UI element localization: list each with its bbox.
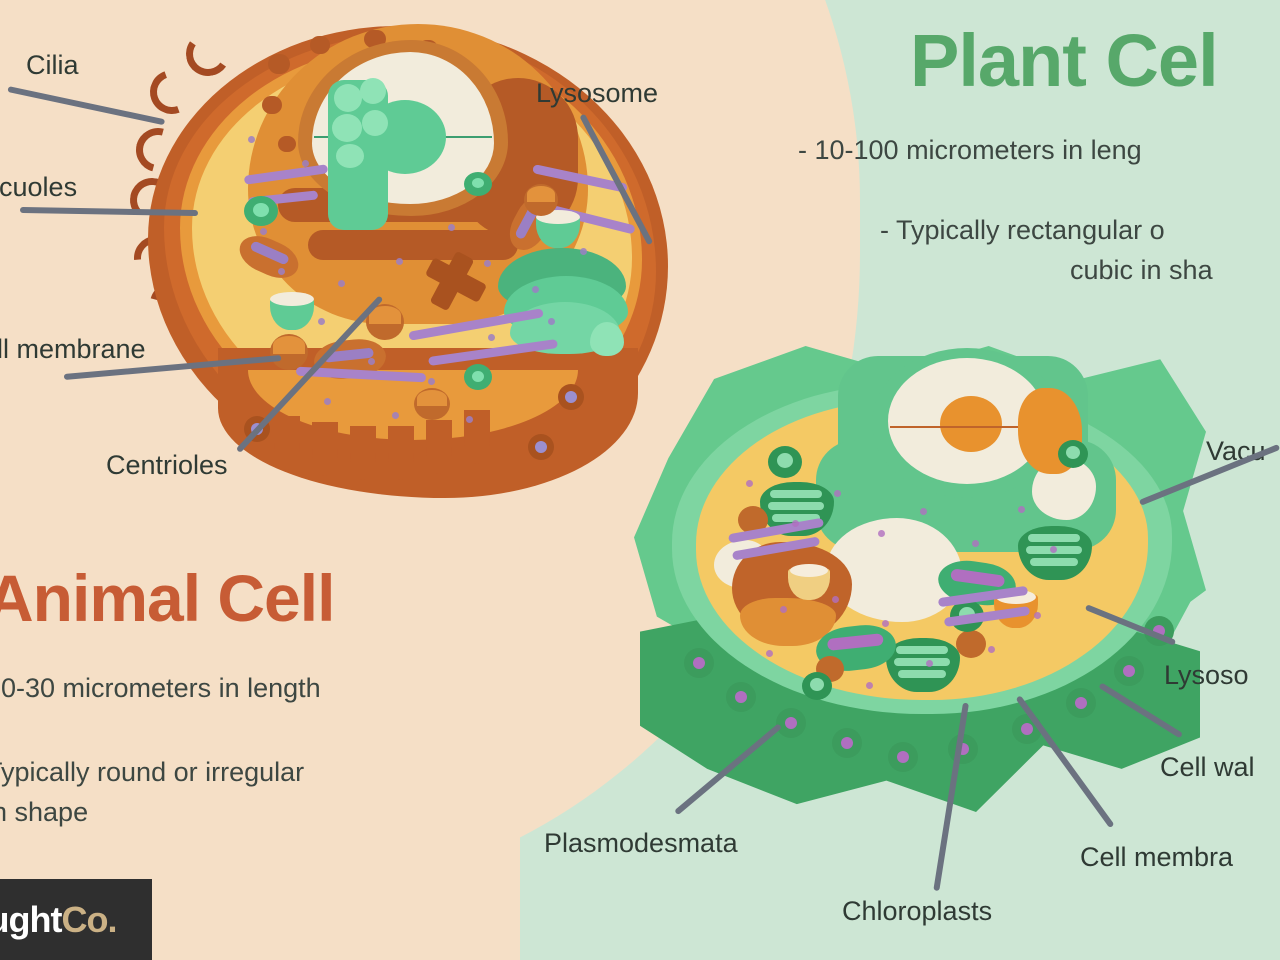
plasmodesma [1114, 656, 1144, 686]
plant-bullet-2: - Typically rectangular o [880, 210, 1165, 250]
plant-cell-illustration [620, 330, 1240, 890]
infographic-canvas: Animal Cell 10-30 micrometers in length … [0, 0, 1280, 960]
thoughtco-logo[interactable]: ughtCo. [0, 879, 152, 960]
ribosome-cluster [334, 84, 362, 112]
plasmodesma [726, 682, 756, 712]
label-cilia: Cilia [26, 50, 79, 81]
logo-text-tan: Co. [61, 899, 116, 940]
plasmodesma [832, 728, 862, 758]
vesicle [414, 388, 450, 420]
chloroplast [1018, 526, 1092, 580]
animal-bullet-1: 10-30 micrometers in length [0, 668, 321, 708]
vacuole-small [802, 672, 832, 700]
animal-bullet-3: in shape [0, 792, 88, 832]
plant-bullet-1: - 10-100 micrometers in leng [798, 130, 1142, 170]
plasmodesma [684, 648, 714, 678]
membrane-frill [274, 416, 300, 470]
vacuole-small [768, 446, 802, 478]
vesicle [524, 184, 558, 216]
vacuole [244, 196, 278, 226]
ribosome-cluster [336, 144, 364, 168]
vesicle [956, 630, 986, 658]
plant-cell-title: Plant Cel [910, 18, 1218, 103]
label-plasmodesmata: Plasmodesmata [544, 828, 738, 859]
label-lysosome: Lysosome [536, 78, 658, 109]
lysosome-top [270, 292, 314, 306]
er-fold [308, 230, 518, 260]
ribosome-cluster [362, 110, 388, 136]
animal-bullet-2: Typically round or irregular [0, 752, 304, 792]
vacuole-lumen [472, 178, 484, 188]
plasmodesma [776, 708, 806, 738]
cilia-strand [183, 29, 234, 80]
plant-bullet-3: cubic in sha [1070, 250, 1213, 290]
label-vacuoles: acuoles [0, 172, 77, 203]
membrane-frill [350, 426, 376, 480]
vacuole-small [1058, 440, 1088, 468]
logo-text-white: ught [0, 899, 61, 940]
label-cell-membrane-plant: Cell membra [1080, 842, 1233, 873]
vesicle-top [273, 336, 305, 354]
label-chloroplasts: Chloroplasts [842, 896, 992, 927]
animal-cell-title: Animal Cell [0, 560, 334, 636]
chloroplast [886, 638, 960, 692]
cilia-strand [143, 63, 201, 121]
membrane-frill [388, 426, 414, 480]
golgi-vesicle [590, 322, 624, 356]
membrane-frill [312, 422, 338, 476]
vesicle-top [417, 390, 447, 406]
ribosome-cluster [332, 114, 362, 142]
membrane-protein [558, 384, 584, 410]
logo-text: ughtCo. [0, 899, 116, 941]
er-pore [268, 54, 290, 74]
plasmodesma [888, 742, 918, 772]
label-lysosome-plant: Lysoso [1164, 660, 1249, 691]
er-pore [310, 36, 330, 54]
label-centrioles: Centrioles [106, 450, 228, 481]
er-pore [278, 136, 296, 152]
vacuole [464, 364, 492, 390]
membrane-protein [528, 434, 554, 460]
er-pore [262, 96, 282, 114]
label-cell-wall: Cell wal [1160, 752, 1255, 783]
label-cell-membrane: ell membrane [0, 334, 146, 365]
vacuole [464, 172, 492, 196]
nucleolus [940, 396, 1002, 452]
vacuole-lumen [472, 371, 484, 382]
plasmodesma [1066, 688, 1096, 718]
vesicle [270, 334, 308, 370]
ribosome-cluster [360, 78, 386, 104]
membrane-frill [426, 420, 452, 474]
vacuole-lumen [253, 203, 269, 217]
vesicle-top [527, 186, 555, 202]
